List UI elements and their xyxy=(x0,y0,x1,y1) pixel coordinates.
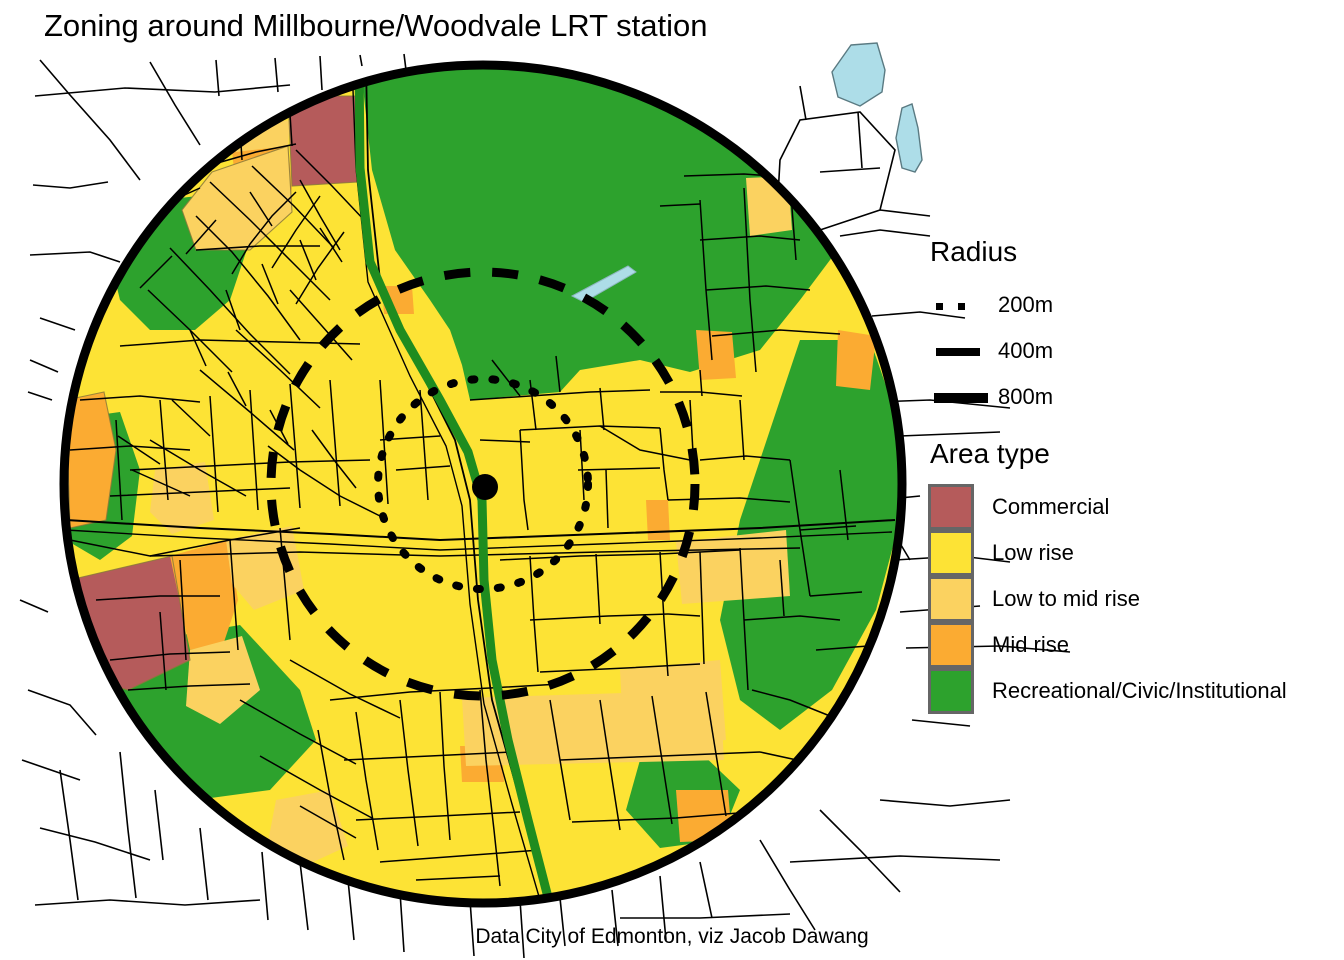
water-body-north xyxy=(832,43,885,106)
area-legend-label-low-rise: Low rise xyxy=(992,540,1074,566)
water-body-east xyxy=(896,104,922,172)
zone-mid-rise-east-wedge xyxy=(836,330,876,390)
source-caption: Data City of Edmonton, viz Jacob Dawang xyxy=(0,925,1344,949)
radius-key-400m xyxy=(928,328,990,374)
station-marker[interactable] xyxy=(472,474,498,500)
radius-legend-row-800m[interactable]: 800m xyxy=(928,374,1338,420)
radius-legend-label-800m: 800m xyxy=(998,384,1053,410)
zone-low-mid-northeast xyxy=(746,176,792,236)
zone-mid-rise-east-small xyxy=(646,500,670,540)
radius-legend-title: Radius xyxy=(930,236,1338,268)
area-legend-row-commercial[interactable]: Commercial xyxy=(928,484,1338,530)
radius-key-200m xyxy=(928,282,990,328)
radius-key-800m xyxy=(928,374,990,420)
radius-legend-items: 200m 400m 800m xyxy=(928,282,1338,420)
area-legend-label-mid-rise: Mid rise xyxy=(992,632,1069,658)
area-swatch-low-rise xyxy=(928,530,974,576)
area-legend-row-mid-rise[interactable]: Mid rise xyxy=(928,622,1338,668)
map-page: Zoning around Millbourne/Woodvale LRT st… xyxy=(0,0,1344,960)
area-type-legend-title: Area type xyxy=(930,438,1338,470)
area-legend-label-recreational: Recreational/Civic/Institutional xyxy=(992,678,1287,704)
zone-mid-rise-northeast xyxy=(696,330,736,380)
zone-low-mid-southeast-block xyxy=(620,660,726,748)
area-swatch-low-to-mid-rise xyxy=(928,576,974,622)
water-bodies-outside xyxy=(832,43,922,172)
area-legend-label-commercial: Commercial xyxy=(992,494,1109,520)
area-swatch-mid-rise xyxy=(928,622,974,668)
area-legend-row-recreational[interactable]: Recreational/Civic/Institutional xyxy=(928,668,1338,714)
area-swatch-commercial xyxy=(928,484,974,530)
area-legend-row-low-to-mid-rise[interactable]: Low to mid rise xyxy=(928,576,1338,622)
map-legend: Radius 200m 400m 800m Area t xyxy=(928,236,1338,714)
radius-legend-row-400m[interactable]: 400m xyxy=(928,328,1338,374)
area-legend-label-low-to-mid-rise: Low to mid rise xyxy=(992,586,1140,612)
radius-legend-row-200m[interactable]: 200m xyxy=(928,282,1338,328)
area-swatch-recreational xyxy=(928,668,974,714)
radius-legend-label-400m: 400m xyxy=(998,338,1053,364)
area-legend-row-low-rise[interactable]: Low rise xyxy=(928,530,1338,576)
area-type-legend-items: Commercial Low rise Low to mid rise Mid … xyxy=(928,484,1338,714)
radius-legend-label-200m: 200m xyxy=(998,292,1053,318)
